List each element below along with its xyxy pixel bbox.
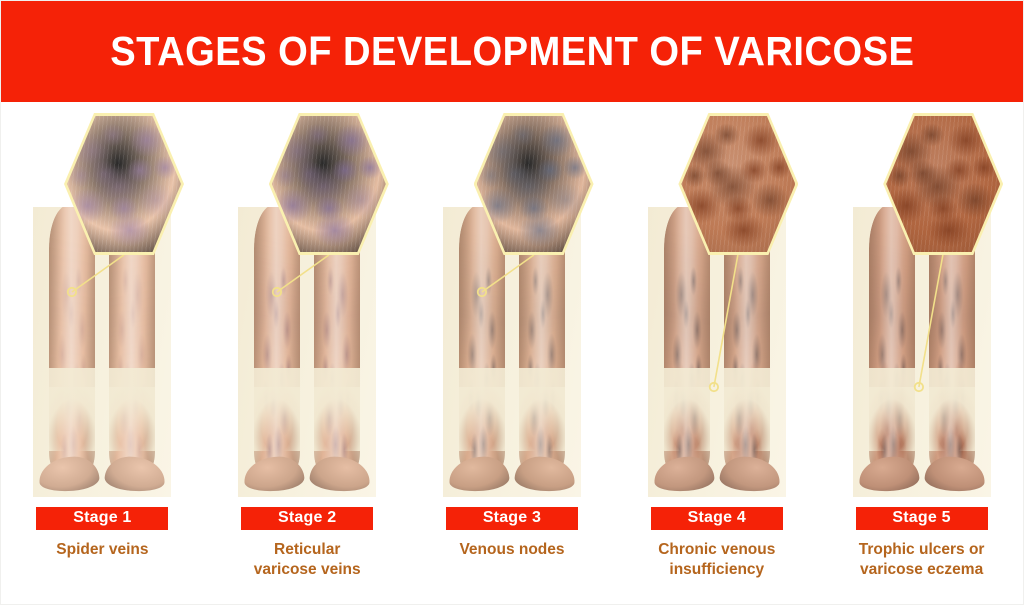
stage-description-4: Chronic venous insufficiency	[614, 540, 819, 580]
skin-magnifier-hexagon	[64, 113, 184, 255]
hexagon-frame	[883, 113, 1003, 255]
hexagon-frame	[678, 113, 798, 255]
foot-right	[514, 455, 576, 493]
ankle-taper	[314, 387, 360, 451]
stage-caption: Stage 4Chronic venous insufficiency	[614, 507, 819, 580]
ankle-taper	[724, 387, 770, 451]
foot-right	[923, 455, 985, 493]
stage-badge-3[interactable]: Stage 3	[446, 507, 578, 530]
stage-description-5: Trophic ulcers or varicose eczema	[819, 540, 1024, 580]
stage-column-2: Stage 2Reticular varicose veins	[205, 102, 410, 605]
stage-badge-2[interactable]: Stage 2	[241, 507, 373, 530]
stage-badge-1[interactable]: Stage 1	[36, 507, 168, 530]
hexagon-skin-closeup	[886, 116, 1000, 252]
ankle-taper	[869, 387, 915, 451]
ankle-taper	[254, 387, 300, 451]
hexagon-skin-closeup	[272, 116, 386, 252]
ankle-taper	[664, 387, 710, 451]
hexagon-skin-closeup	[67, 116, 181, 252]
varicose-stages-infographic: STAGES OF DEVELOPMENT OF VARICOSE Stage …	[0, 0, 1024, 605]
skin-magnifier-hexagon	[678, 113, 798, 255]
stage-caption: Stage 1Spider veins	[0, 507, 205, 560]
title-banner: STAGES OF DEVELOPMENT OF VARICOSE	[0, 0, 1024, 102]
stage-description-2: Reticular varicose veins	[205, 540, 410, 580]
ankle-taper	[519, 387, 565, 451]
stage-caption: Stage 2Reticular varicose veins	[205, 507, 410, 580]
stage-column-4: Stage 4Chronic venous insufficiency	[614, 102, 819, 605]
foot-right	[309, 455, 371, 493]
ankle-taper	[459, 387, 505, 451]
hexagon-frame	[269, 113, 389, 255]
stage-caption: Stage 3Venous nodes	[410, 507, 615, 560]
hexagon-frame	[474, 113, 594, 255]
hexagon-skin-closeup	[681, 116, 795, 252]
ankle-taper	[49, 387, 95, 451]
stage-caption: Stage 5Trophic ulcers or varicose eczema	[819, 507, 1024, 580]
stage-column-3: Stage 3Venous nodes	[410, 102, 615, 605]
stage-column-1: Stage 1Spider veins	[0, 102, 205, 605]
stages-row: Stage 1Spider veinsStage 2Reticular vari…	[0, 102, 1024, 605]
skin-magnifier-hexagon	[883, 113, 1003, 255]
skin-magnifier-hexagon	[474, 113, 594, 255]
page-title: STAGES OF DEVELOPMENT OF VARICOSE	[110, 28, 914, 75]
stage-badge-4[interactable]: Stage 4	[651, 507, 783, 530]
stage-description-3: Venous nodes	[410, 540, 615, 560]
foot-right	[719, 455, 781, 493]
stage-description-1: Spider veins	[0, 540, 205, 560]
ankle-taper	[929, 387, 975, 451]
stage-column-5: Stage 5Trophic ulcers or varicose eczema	[819, 102, 1024, 605]
ankle-taper	[109, 387, 155, 451]
hexagon-frame	[64, 113, 184, 255]
hexagon-skin-closeup	[477, 116, 591, 252]
stage-badge-5[interactable]: Stage 5	[856, 507, 988, 530]
skin-magnifier-hexagon	[269, 113, 389, 255]
foot-right	[104, 455, 166, 493]
